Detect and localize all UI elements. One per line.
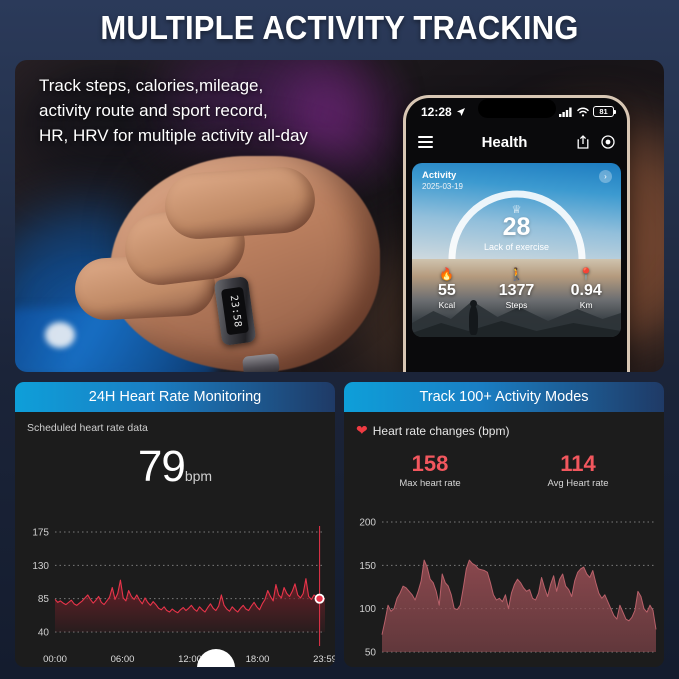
- activity-score: 28: [412, 213, 621, 242]
- status-right: 81: [559, 106, 614, 117]
- phone-notch: [478, 99, 556, 118]
- bottle-cap: [45, 322, 75, 348]
- panel-heart-rate-monitoring: 24H Heart Rate Monitoring Scheduled hear…: [15, 382, 335, 667]
- svg-text:06:00: 06:00: [111, 654, 135, 665]
- hero-description: Track steps, calories,mileage, activity …: [39, 73, 308, 148]
- stat-max-heart-rate: 158 Max heart rate: [356, 451, 504, 489]
- svg-text:175: 175: [32, 528, 49, 539]
- hr-changes-label-row: ❤ Heart rate changes (bpm): [356, 422, 652, 439]
- metric-value: 1377: [482, 281, 552, 300]
- smart-ring-display: 23:58: [221, 287, 249, 336]
- activity-status: Lack of exercise: [412, 242, 621, 252]
- finger: [163, 165, 317, 241]
- signal-bars-icon: [559, 107, 573, 117]
- stat-value: 158: [356, 451, 504, 477]
- scheduled-hr-label: Scheduled heart rate data: [27, 422, 323, 434]
- svg-text:85: 85: [38, 594, 50, 605]
- chevron-right-icon[interactable]: ›: [599, 170, 612, 183]
- panel-left-header: 24H Heart Rate Monitoring: [15, 382, 335, 412]
- location-pin-icon: 📍: [551, 267, 621, 281]
- share-icon[interactable]: [576, 135, 590, 149]
- heart-rate-24h-chart[interactable]: 175130854000:0006:0012:0018:0023:59: [15, 524, 335, 666]
- svg-text:23:59: 23:59: [313, 654, 335, 665]
- status-time: 12:28: [421, 105, 452, 119]
- metric-steps: 🚶 1377 Steps: [482, 267, 552, 310]
- svg-text:130: 130: [32, 561, 49, 572]
- svg-text:00:00: 00:00: [43, 654, 67, 665]
- metric-value: 55: [412, 281, 482, 300]
- status-left: 12:28: [421, 105, 466, 119]
- panel-left-body: Scheduled heart rate data 79bpm 17513085…: [15, 412, 335, 667]
- svg-text:150: 150: [359, 561, 376, 572]
- svg-text:40: 40: [38, 628, 50, 639]
- activity-card-title: Activity: [422, 170, 456, 181]
- walking-icon: 🚶: [482, 267, 552, 281]
- location-arrow-icon: [456, 107, 466, 117]
- svg-text:50: 50: [365, 648, 377, 659]
- flame-icon: 🔥: [412, 267, 482, 281]
- hr-changes-label: Heart rate changes (bpm): [373, 424, 510, 438]
- metrics-panel: 🔥 55 Kcal 🚶 1377 Steps 📍 0.94 Km: [412, 259, 621, 337]
- phone-status-bar: 12:28: [406, 98, 627, 125]
- target-icon[interactable]: [601, 135, 615, 149]
- activity-card[interactable]: Activity 2025-03-19 › ♕ 28 Lack of exerc…: [412, 163, 621, 259]
- svg-text:200: 200: [359, 518, 376, 529]
- svg-text:100: 100: [359, 604, 376, 615]
- app-title: Health: [482, 134, 528, 151]
- hero-line-3: HR, HRV for multiple activity all-day: [39, 123, 308, 148]
- current-bpm: 79bpm: [27, 442, 323, 492]
- page-title: MULTIPLE ACTIVITY TRACKING: [20, 9, 658, 47]
- stat-value: 114: [504, 451, 652, 477]
- activity-heart-rate-chart[interactable]: 20015010050: [344, 514, 664, 664]
- metrics-row: 🔥 55 Kcal 🚶 1377 Steps 📍 0.94 Km: [412, 267, 621, 310]
- bpm-unit: bpm: [185, 468, 212, 484]
- hero-line-2: activity route and sport record,: [39, 98, 308, 123]
- metric-unit: Steps: [482, 300, 552, 310]
- app-header-actions: [576, 135, 615, 149]
- wifi-icon: [577, 107, 589, 117]
- metric-unit: Kcal: [412, 300, 482, 310]
- app-header: Health: [406, 125, 627, 159]
- phone-mockup: 12:28: [403, 95, 630, 372]
- hamburger-menu-icon[interactable]: [418, 136, 433, 148]
- panel-activity-modes: Track 100+ Activity Modes ❤ Heart rate c…: [344, 382, 664, 667]
- panel-right-header: Track 100+ Activity Modes: [344, 382, 664, 412]
- hero-line-1: Track steps, calories,mileage,: [39, 73, 308, 98]
- battery-icon: 81: [593, 106, 614, 117]
- ring-time-text: 23:58: [227, 294, 242, 328]
- svg-text:18:00: 18:00: [246, 654, 270, 665]
- bpm-value: 79: [138, 442, 185, 491]
- stat-avg-heart-rate: 114 Avg Heart rate: [504, 451, 652, 489]
- metric-kcal: 🔥 55 Kcal: [412, 267, 482, 310]
- second-ring: [242, 353, 280, 372]
- panel-right-body: ❤ Heart rate changes (bpm) 158 Max heart…: [344, 412, 664, 667]
- hero-image: 23:58 Track steps, calories,mileage, act…: [15, 60, 664, 372]
- metric-distance: 📍 0.94 Km: [551, 267, 621, 310]
- metric-unit: Km: [551, 300, 621, 310]
- heart-icon: ❤: [356, 422, 368, 439]
- stat-label: Avg Heart rate: [504, 478, 652, 489]
- stat-label: Max heart rate: [356, 478, 504, 489]
- metric-value: 0.94: [551, 281, 621, 300]
- hr-stats-row: 158 Max heart rate 114 Avg Heart rate: [356, 451, 652, 489]
- promo-page: MULTIPLE ACTIVITY TRACKING 23:58 Track s…: [0, 0, 679, 679]
